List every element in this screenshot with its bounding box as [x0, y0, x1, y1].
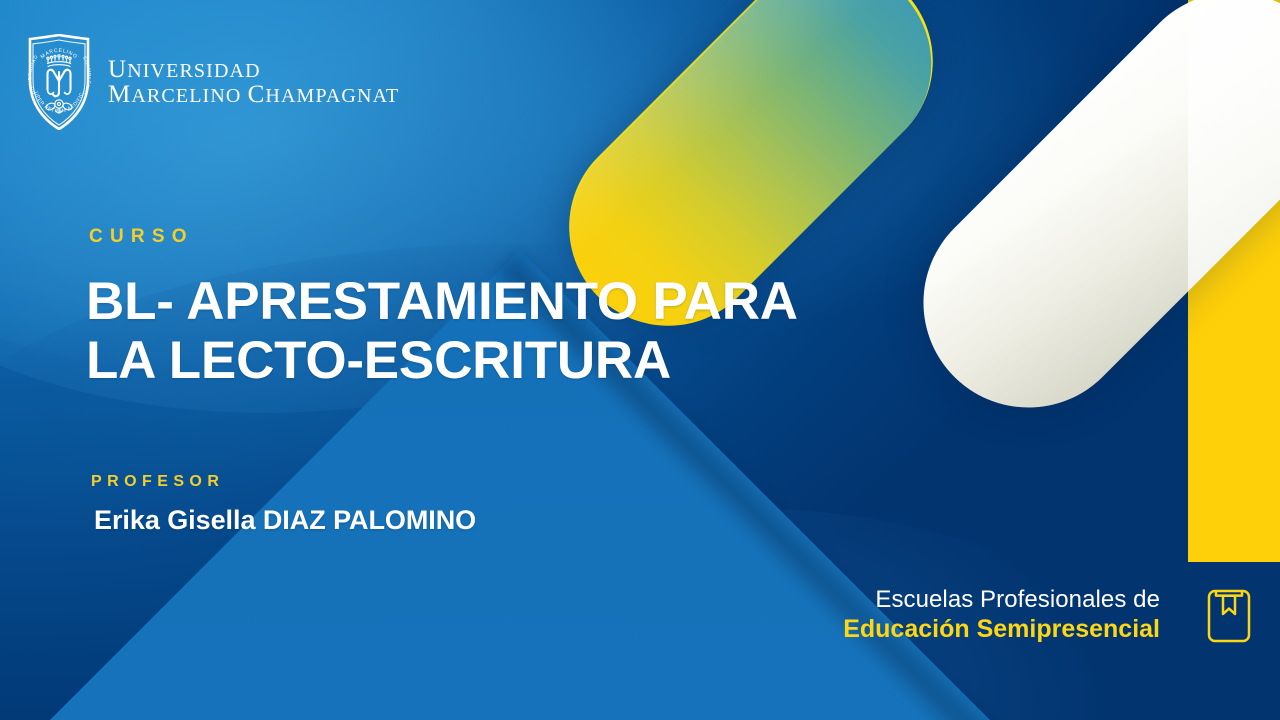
university-name-line1: UNIVERSIDAD: [108, 57, 399, 83]
course-title-line-1: BL- APRESTAMIENTO PARA: [86, 272, 946, 331]
course-title-line-2: LA LECTO-ESCRITURA: [86, 331, 946, 390]
footer-program: Escuelas Profesionales de Educación Semi…: [843, 586, 1160, 644]
capsule-white-over-yellow-fill: [1188, 0, 1280, 451]
footer-line-1: Escuelas Profesionales de: [843, 586, 1160, 613]
university-wordmark: UNIVERSIDAD MARCELINO CHAMPAGNAT: [108, 57, 399, 108]
course-kicker: CURSO: [89, 226, 194, 248]
professor-name: Erika Gisella DIAZ PALOMINO: [94, 505, 476, 536]
svg-text:CHAMPAGNAT: CHAMPAGNAT: [81, 56, 92, 97]
university-name-line2: MARCELINO CHAMPAGNAT: [108, 82, 399, 108]
title-slide: MARCELINO UNIVERSIDAD CHAMPAGNAT SUPER P…: [0, 0, 1280, 720]
shield-crest-icon: MARCELINO UNIVERSIDAD CHAMPAGNAT SUPER P…: [26, 34, 92, 130]
university-logo: MARCELINO UNIVERSIDAD CHAMPAGNAT SUPER P…: [26, 34, 399, 130]
footer-line-2: Educación Semipresencial: [843, 615, 1160, 644]
book-bookmark-icon: [1206, 586, 1252, 644]
course-title: BL- APRESTAMIENTO PARA LA LECTO-ESCRITUR…: [86, 272, 946, 391]
capsule-white-over-yellow: [1188, 0, 1280, 562]
professor-kicker: PROFESOR: [91, 473, 224, 491]
